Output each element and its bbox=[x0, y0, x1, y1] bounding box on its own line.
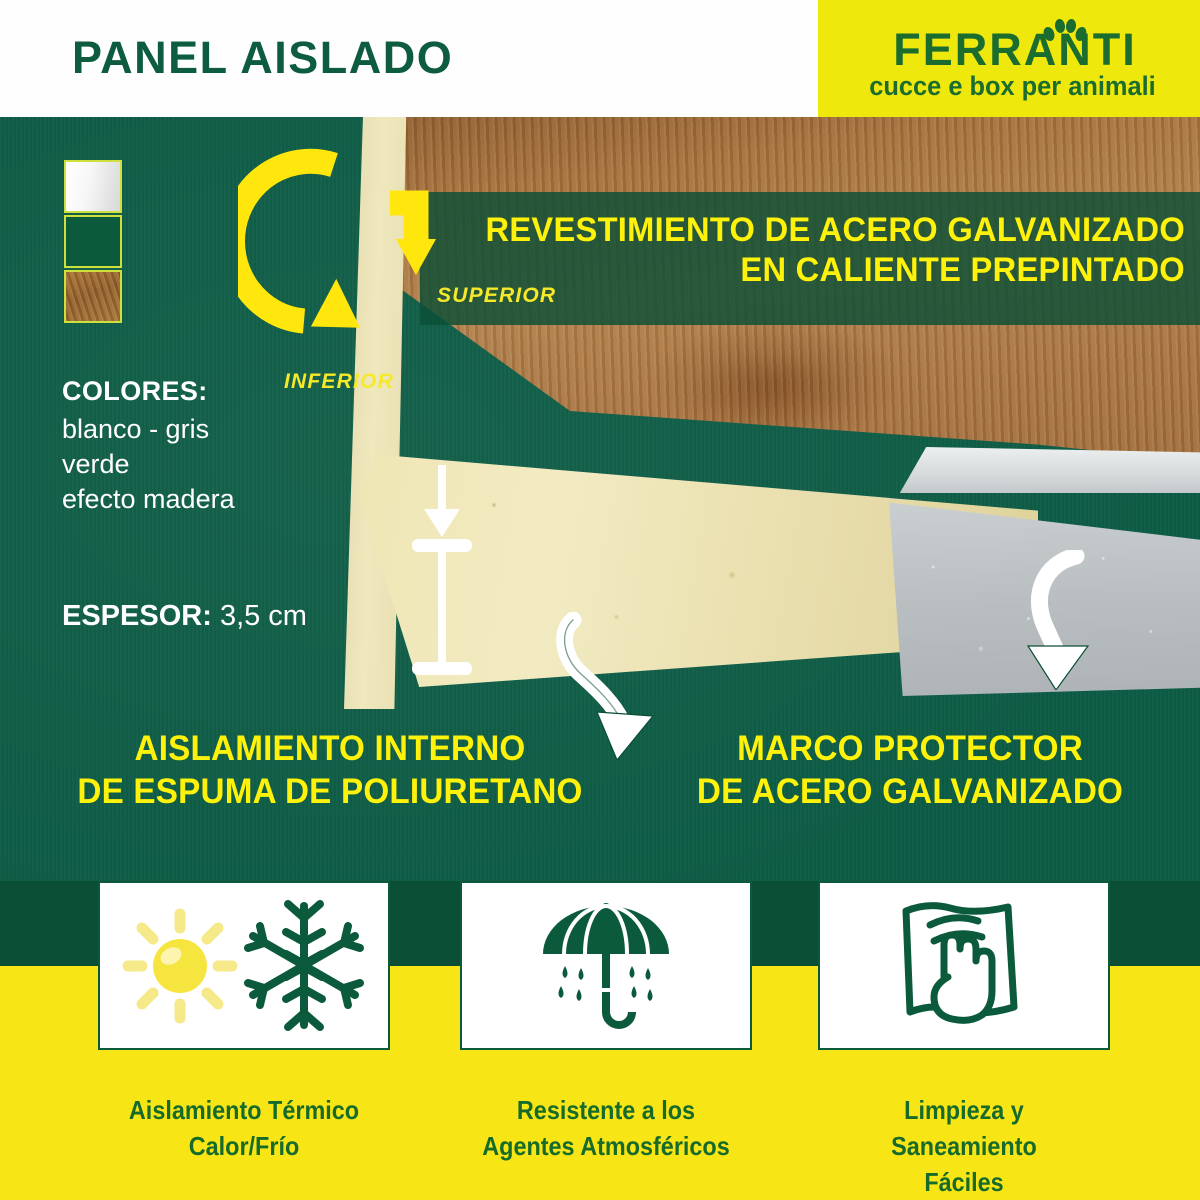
feature-label-line-2: Agentes Atmosféricos bbox=[482, 1131, 730, 1161]
circular-arrow-icon bbox=[238, 143, 438, 353]
thickness-value: 3,5 cm bbox=[220, 600, 307, 632]
color-option: verde bbox=[62, 447, 235, 482]
ferranti-logo: FERRANTI cucce e box per animali bbox=[840, 24, 1185, 102]
umbrella-rain-icon bbox=[531, 896, 681, 1036]
callout-frame: MARCO PROTECTOR DE ACERO GALVANIZADO bbox=[682, 727, 1138, 813]
feature-label-line-1: Aislamiento Térmico bbox=[129, 1095, 359, 1125]
logo-tagline: cucce e box per animali bbox=[850, 71, 1174, 102]
efecto-madera-swatch bbox=[64, 270, 122, 323]
verde-swatch bbox=[64, 215, 122, 268]
thickness-spec: ESPESOR: 3,5 cm bbox=[62, 600, 307, 633]
hand-wipe-cloth-icon bbox=[890, 895, 1038, 1037]
sun-icon bbox=[120, 906, 240, 1026]
color-option: efecto madera bbox=[62, 482, 235, 517]
page-title: PANEL AISLADO bbox=[72, 32, 453, 84]
callout-insulation-line-1: AISLAMIENTO INTERNO bbox=[135, 729, 526, 768]
colores-heading: COLORES: bbox=[62, 376, 208, 407]
headline-line-2: EN CALIENTE PREPINTADO bbox=[740, 251, 1185, 289]
feature-label-cleaning: Limpieza y Saneamiento Fáciles bbox=[833, 1092, 1096, 1200]
label-superior: SUPERIOR bbox=[437, 284, 556, 308]
panel-headline: REVESTIMIENTO DE ACERO GALVANIZADO EN CA… bbox=[470, 210, 1185, 290]
feature-label-line-1: Resistente a los bbox=[517, 1095, 695, 1125]
callout-insulation: AISLAMIENTO INTERNO DE ESPUMA DE POLIURE… bbox=[55, 727, 606, 813]
feature-label-line-2: Fáciles bbox=[924, 1167, 1003, 1197]
thickness-measure-icon bbox=[400, 465, 490, 695]
feature-label-line-1: Limpieza y Saneamiento bbox=[891, 1095, 1037, 1161]
blanco-gris-swatch bbox=[64, 160, 122, 213]
feature-card-thermal bbox=[98, 881, 390, 1050]
thickness-label: ESPESOR: bbox=[62, 600, 212, 632]
callout-frame-line-2: DE ACERO GALVANIZADO bbox=[697, 772, 1123, 811]
curved-arrow-down-steel-icon bbox=[1010, 550, 1120, 690]
steel-frame-top-flange bbox=[880, 447, 1200, 493]
infographic-panel-aislado: PANEL AISLADO FERRANTI cucce e box per a… bbox=[0, 0, 1200, 1200]
feature-card-weather bbox=[460, 881, 752, 1050]
feature-card-cleaning bbox=[818, 881, 1110, 1050]
feature-label-weather: Resistente a los Agentes Atmosféricos bbox=[475, 1092, 738, 1164]
colores-option-list: blanco - gris verde efecto madera bbox=[62, 412, 235, 517]
label-inferior: INFERIOR bbox=[284, 370, 394, 394]
logo-wordmark: FERRANTI bbox=[846, 24, 1184, 76]
color-option: blanco - gris bbox=[62, 412, 235, 447]
callout-frame-line-1: MARCO PROTECTOR bbox=[737, 729, 1083, 768]
snowflake-icon bbox=[240, 898, 368, 1033]
headline-line-1: REVESTIMIENTO DE ACERO GALVANIZADO bbox=[485, 211, 1185, 249]
feature-label-line-2: Calor/Frío bbox=[189, 1131, 300, 1161]
callout-insulation-line-2: DE ESPUMA DE POLIURETANO bbox=[77, 772, 582, 811]
header: PANEL AISLADO FERRANTI cucce e box per a… bbox=[0, 0, 1200, 117]
feature-label-thermal: Aislamiento Térmico Calor/Frío bbox=[113, 1092, 376, 1164]
